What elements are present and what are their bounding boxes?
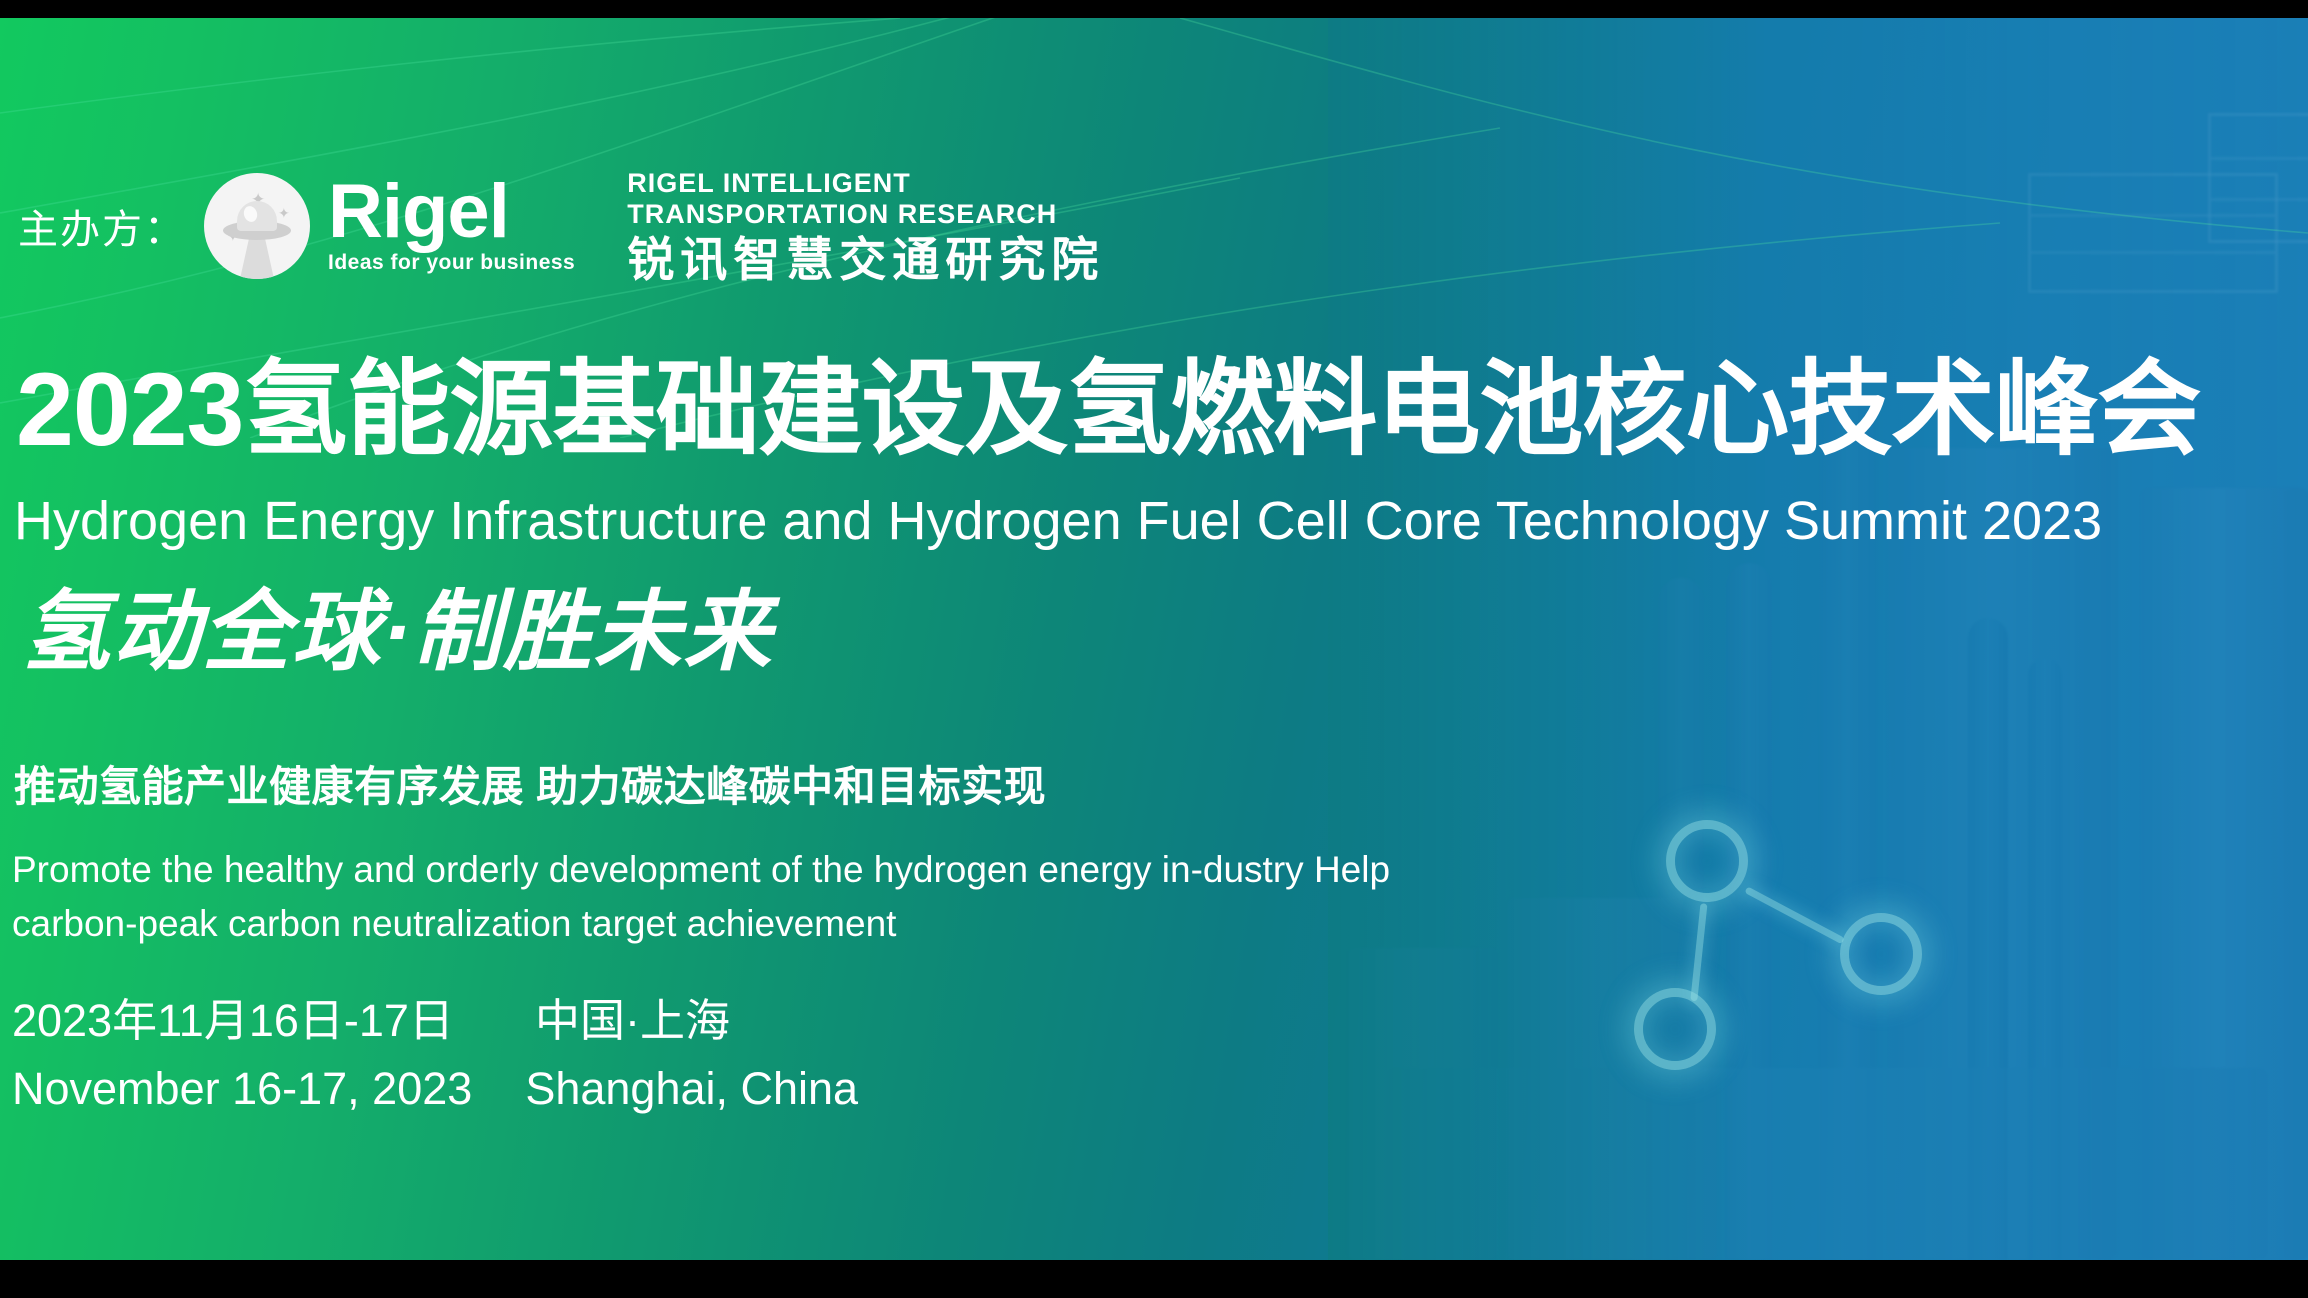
rigel-tagline: Ideas for your business — [328, 251, 575, 275]
ufo-dome — [237, 201, 277, 231]
event-slogan: 氢动全球·制胜未来 — [22, 588, 773, 676]
conference-poster: 主办方： ✦ ✦ ✦ Rigel Ideas for your business… — [0, 18, 2308, 1260]
sparkle-icon: ✦ — [278, 206, 290, 220]
org-english-line2: TRANSPORTATION RESEARCH — [627, 199, 1104, 230]
event-location-english: Shanghai, China — [525, 1063, 858, 1114]
page-title-chinese: 2023氢能源基础建设及氢燃料电池核心技术峰会 — [16, 358, 2200, 462]
page-title-english: Hydrogen Energy Infrastructure and Hydro… — [14, 494, 2102, 548]
subtitle-english: Promote the healthy and orderly developm… — [12, 843, 1432, 950]
organization-name-block: RIGEL INTELLIGENT TRANSPORTATION RESEARC… — [627, 168, 1104, 284]
letterbox-bottom — [0, 1260, 2308, 1298]
subtitle-chinese: 推动氢能产业健康有序发展 助力碳达峰碳中和目标实现 — [14, 766, 1046, 808]
event-date-chinese: 2023年11月16日-17日 — [12, 995, 454, 1046]
event-date-location-english: November 16-17, 2023 Shanghai, China — [12, 1066, 858, 1111]
event-date-location-chinese: 2023年11月16日-17日 中国·上海 — [12, 998, 730, 1043]
rigel-brand-name: Rigel — [328, 177, 575, 247]
rigel-wordmark: Rigel Ideas for your business — [328, 177, 575, 275]
event-location-chinese: 中国·上海 — [535, 995, 730, 1046]
org-chinese-name: 锐讯智慧交通研究院 — [627, 235, 1104, 284]
organizer-label: 主办方： — [18, 197, 186, 255]
rigel-ufo-logo-icon: ✦ ✦ ✦ — [204, 173, 310, 279]
org-english-line1: RIGEL INTELLIGENT — [627, 168, 1104, 199]
event-date-english: November 16-17, 2023 — [12, 1063, 472, 1114]
organizer-row: 主办方： ✦ ✦ ✦ Rigel Ideas for your business… — [18, 168, 1104, 284]
letterbox-top — [0, 0, 2308, 18]
